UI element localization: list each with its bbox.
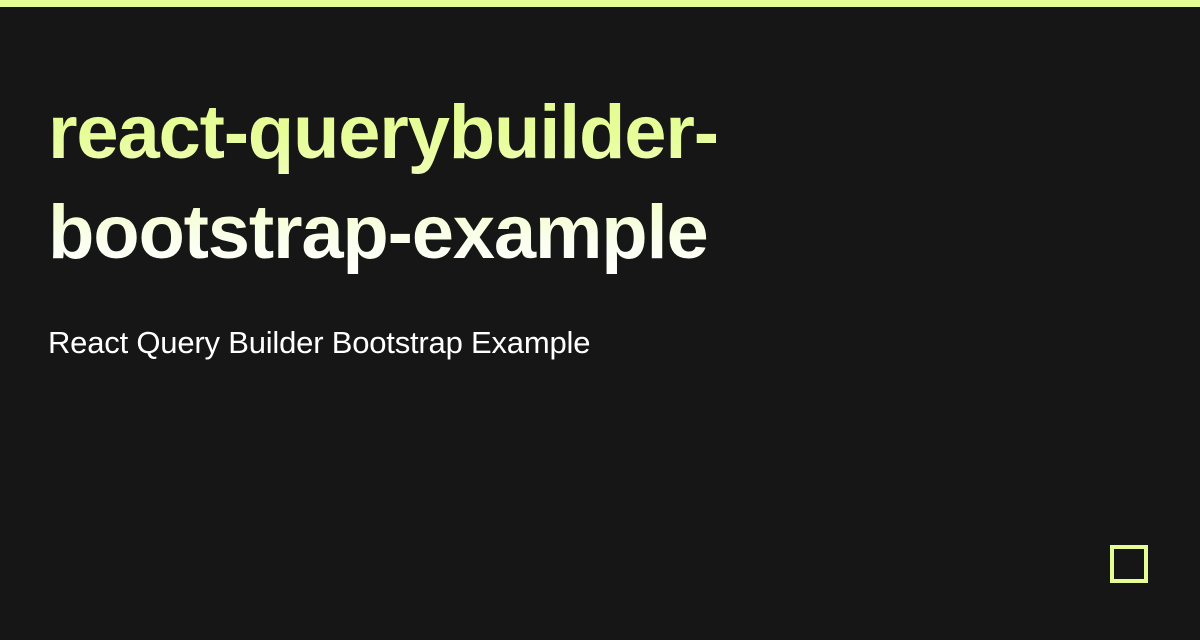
header-content: react-querybuilder-bootstrap-example Rea… <box>48 83 808 362</box>
page-title: react-querybuilder-bootstrap-example <box>48 83 808 283</box>
social-preview-card: react-querybuilder-bootstrap-example Rea… <box>0 0 1200 640</box>
top-accent-bar <box>0 0 1200 7</box>
page-subtitle: React Query Builder Bootstrap Example <box>48 283 808 362</box>
square-outline-icon <box>1110 545 1148 583</box>
